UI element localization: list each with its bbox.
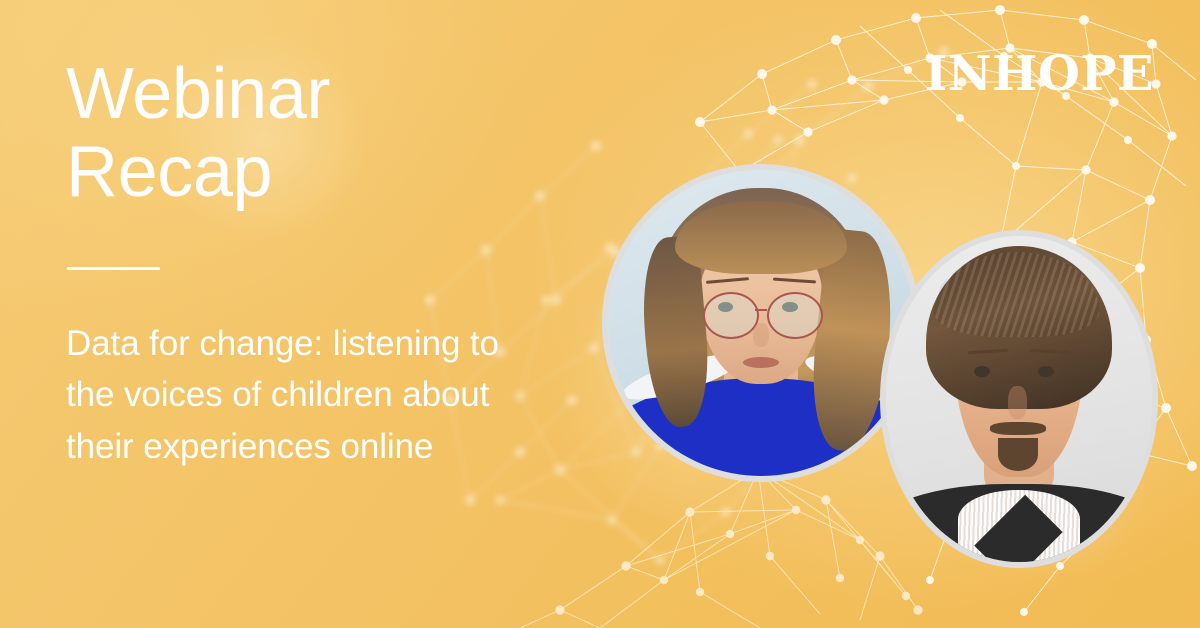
title-divider bbox=[67, 267, 160, 270]
webinar-subtitle: Data for change: listening to the voices… bbox=[66, 318, 536, 472]
speaker-avatar-left bbox=[608, 170, 914, 476]
speaker-photo-woman bbox=[608, 170, 914, 476]
moustache bbox=[990, 422, 1046, 435]
inhope-logo: INHOPE bbox=[925, 50, 1154, 98]
goatee bbox=[998, 438, 1038, 471]
glasses-bridge bbox=[755, 309, 767, 311]
glasses-lens-right bbox=[767, 292, 823, 339]
glasses-lens-left bbox=[703, 292, 759, 339]
lips bbox=[743, 357, 780, 368]
mesh-lower-cluster bbox=[520, 465, 923, 628]
nose bbox=[753, 323, 768, 347]
speaker-avatar-right bbox=[886, 236, 1152, 562]
nose bbox=[1008, 386, 1027, 419]
speaker-photo-man bbox=[886, 236, 1152, 562]
webinar-recap-banner: Webinar Recap Data for change: listening… bbox=[0, 0, 1200, 628]
page-title: Webinar Recap bbox=[66, 56, 586, 212]
